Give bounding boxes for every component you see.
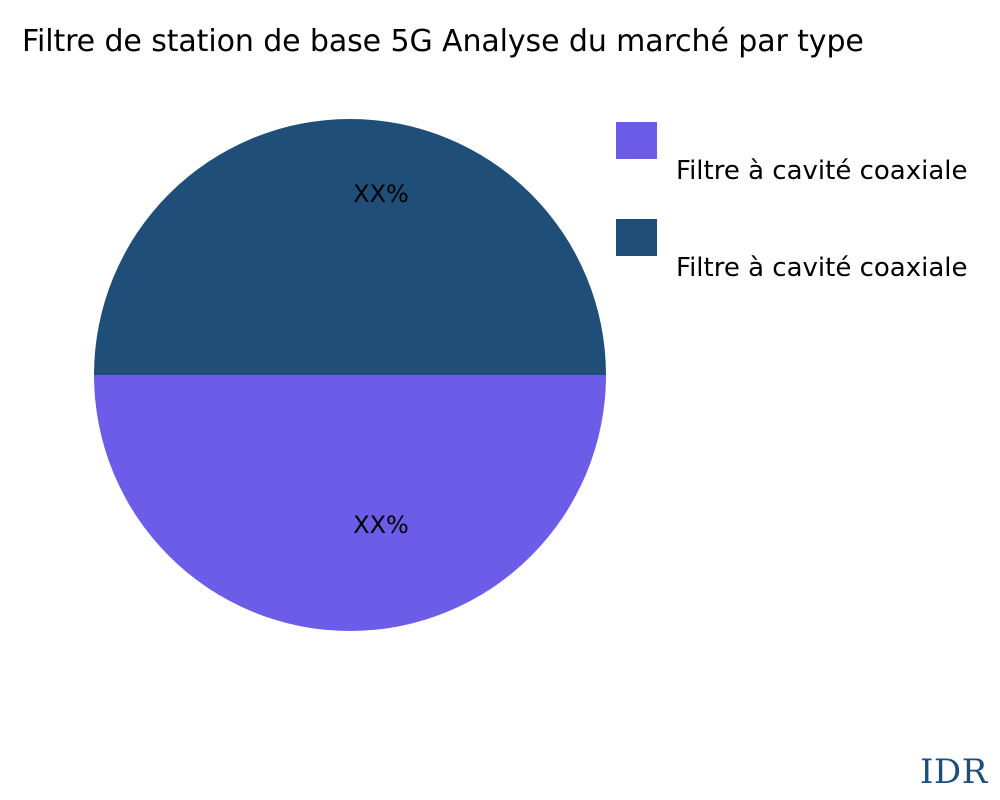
pie-slice-label-top: XX% <box>353 182 409 206</box>
chart-legend: Filtre à cavité coaxiale Filtre à cavité… <box>616 122 1000 316</box>
pie-slice-bottom-purple[interactable] <box>94 375 606 631</box>
pie-slice-label-bottom: XX% <box>353 513 409 537</box>
legend-item-coaxial-blue[interactable]: Filtre à cavité coaxiale <box>616 219 1000 316</box>
chart-canvas: Filtre de station de base 5G Analyse du … <box>0 0 1000 800</box>
legend-swatch-purple <box>616 122 657 159</box>
legend-label-coaxial-blue: Filtre à cavité coaxiale <box>676 253 967 283</box>
legend-swatch-blue <box>616 219 657 256</box>
legend-item-coaxial-purple[interactable]: Filtre à cavité coaxiale <box>616 122 1000 219</box>
pie-slice-top-blue[interactable] <box>94 119 606 375</box>
pie-chart <box>0 0 1000 800</box>
watermark-idr: IDR <box>920 752 988 792</box>
legend-label-coaxial-purple: Filtre à cavité coaxiale <box>676 156 967 186</box>
